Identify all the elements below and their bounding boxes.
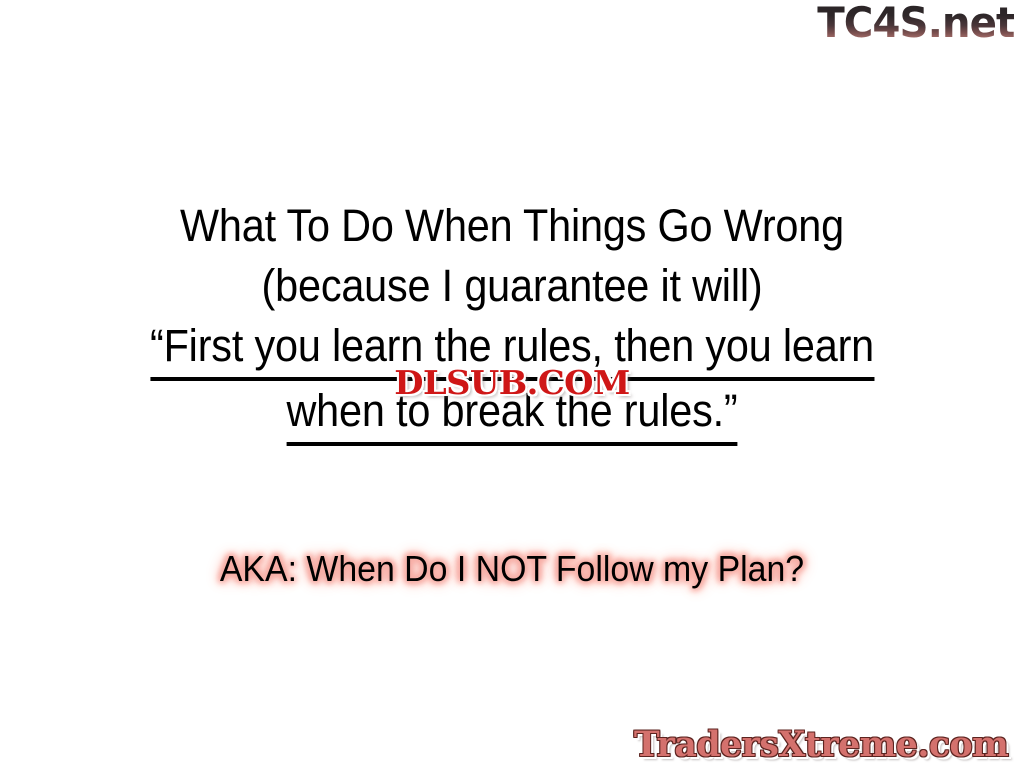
slide-body: What To Do When Things Go Wrong (because… [0, 196, 1024, 446]
slide-title-line-1: What To Do When Things Go Wrong [41, 196, 983, 256]
quote-line-2: when to break the rules.” [286, 381, 737, 446]
slide-canvas: { "branding": { "top_logo": "TC4S.net", … [0, 0, 1024, 768]
slide-title-line-2: (because I guarantee it will) [41, 256, 983, 316]
tradersxtreme-logo: TradersXtreme.com [634, 727, 1008, 762]
quote-line-1: “First you learn the rules, then you lea… [150, 316, 874, 381]
slide-subtitle: AKA: When Do I NOT Follow my Plan? [31, 546, 994, 592]
quote-line-1-row: “First you learn the rules, then you lea… [41, 316, 983, 381]
quote-line-2-row: when to break the rules.” [41, 381, 983, 446]
tc4s-logo: TC4S.net [817, 2, 1014, 44]
